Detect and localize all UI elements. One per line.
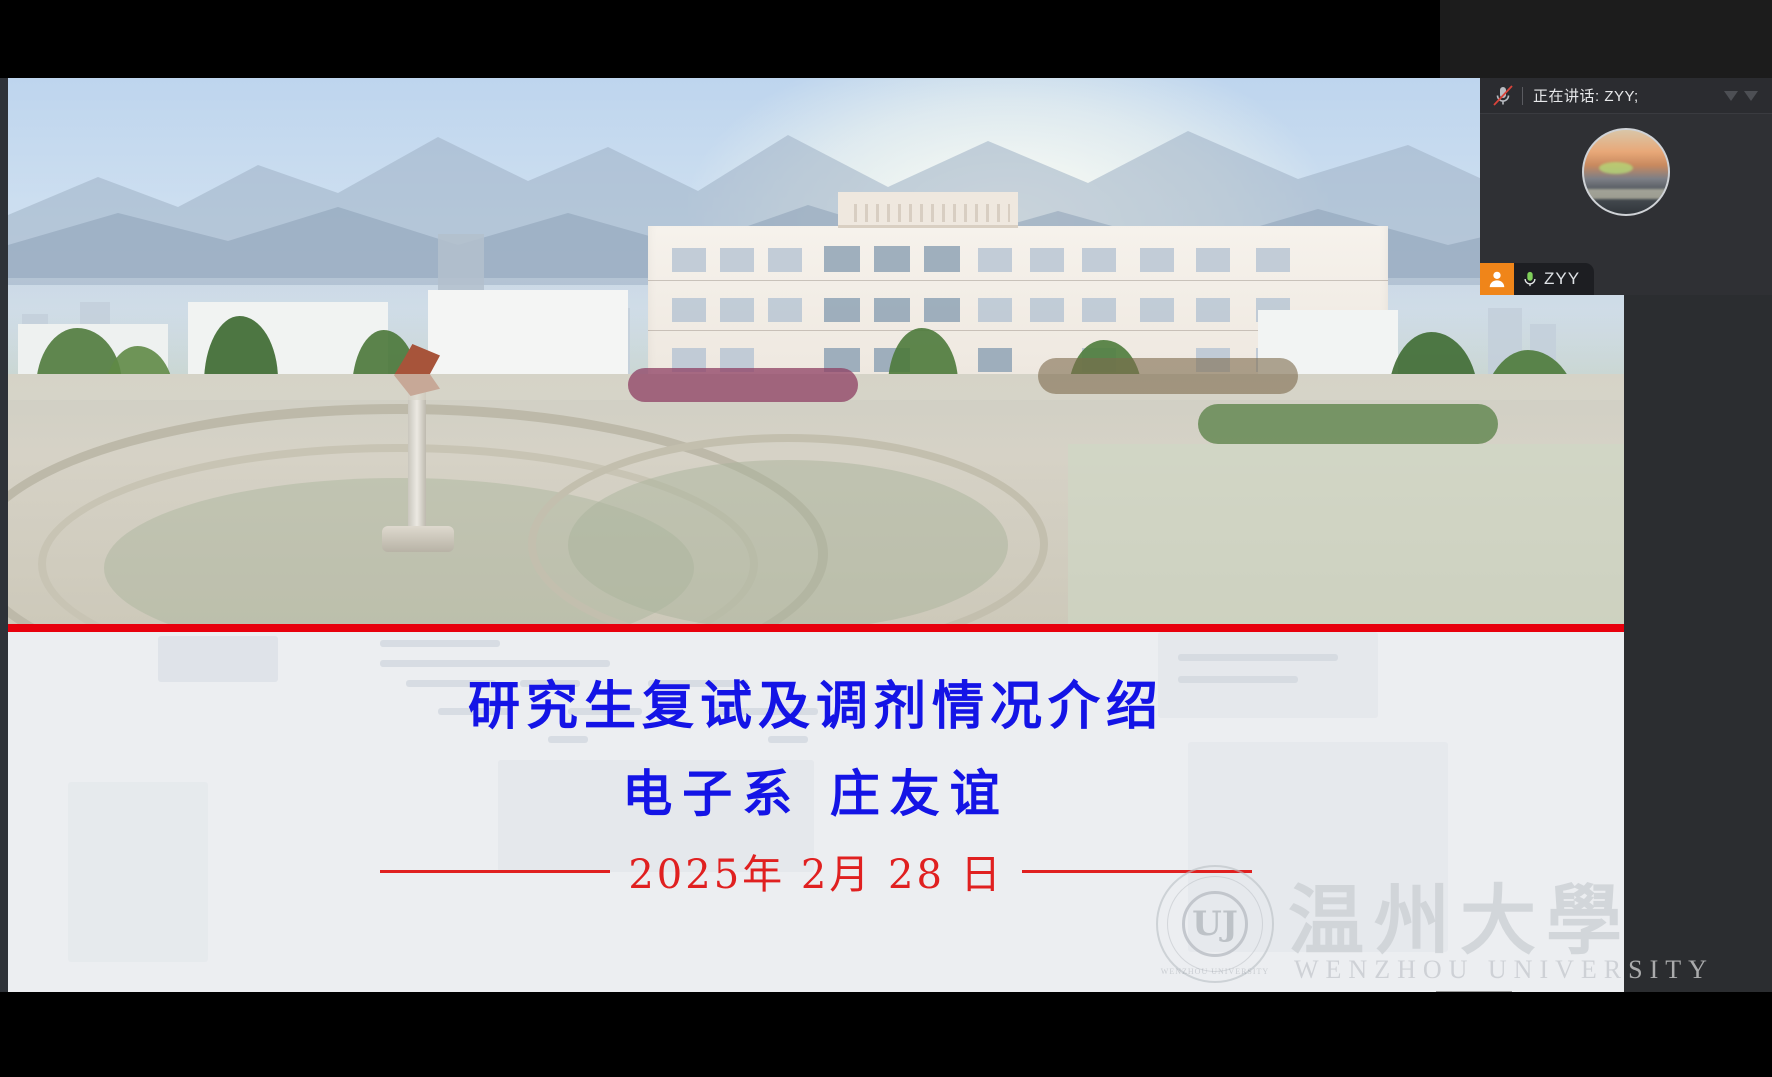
flower-hedge-a [628,368,858,402]
seal-english-text: WENZHOU UNIVERSITY [1158,967,1272,976]
microphone-icon [1522,270,1538,288]
microphone-muted-icon[interactable] [1490,83,1516,109]
slide-title-line2: 电子系 庄友谊 [8,754,1624,826]
left-gutter [0,78,8,992]
date-rule-left [380,870,610,873]
flower-hedge-b [1038,358,1298,394]
video-panel-header[interactable]: 正在讲话: ZYY; [1480,78,1772,114]
screen-root: 研究生复试及调剂情况介绍 电子系 庄友谊 2025年 2月 28 日 UJ WE… [0,0,1772,1077]
seal-monogram: UJ [1182,891,1248,957]
slide-title-line1: 研究生复试及调剂情况介绍 [8,664,1624,739]
university-name-chinese: 温州大學 [1288,859,1632,969]
university-seal-icon: UJ WENZHOU UNIVERSITY [1156,865,1274,983]
avatar [1582,128,1670,216]
university-logo-outer: UJ WENZHOU UNIVERSITY 温州大學 WENZHOU UNIVE… [1148,855,1772,992]
campus-plaza [8,374,1624,624]
green-hedge [1198,404,1498,444]
campus-panorama-photo [8,78,1624,624]
bottom-letterbox [0,992,1772,1077]
participant-name-chip[interactable]: ZYY [1514,263,1594,295]
header-separator [1522,87,1523,105]
building-roof-ornament [838,192,1018,228]
chevrons-icon[interactable] [1722,85,1766,107]
top-letterbox-right [1440,0,1772,78]
participant-badge[interactable]: ZYY [1480,263,1594,295]
slide-date-text: 2025年 2月 28 日 [628,842,1003,900]
red-divider-line [8,624,1624,632]
top-letterbox [0,0,1440,78]
video-conference-panel[interactable]: 正在讲话: ZYY; [1480,78,1772,295]
participant-name: ZYY [1544,269,1580,289]
speaking-status-label: 正在讲话: ZYY; [1533,85,1639,106]
fountain-column [408,392,426,532]
avatar-water [1584,189,1668,199]
fountain-column-base [382,526,454,552]
video-panel-body[interactable]: ZYY [1480,114,1772,295]
avatar-sun [1599,162,1633,174]
university-name-english: WENZHOU UNIVERSITY [1294,955,1714,985]
person-icon[interactable] [1480,263,1514,295]
